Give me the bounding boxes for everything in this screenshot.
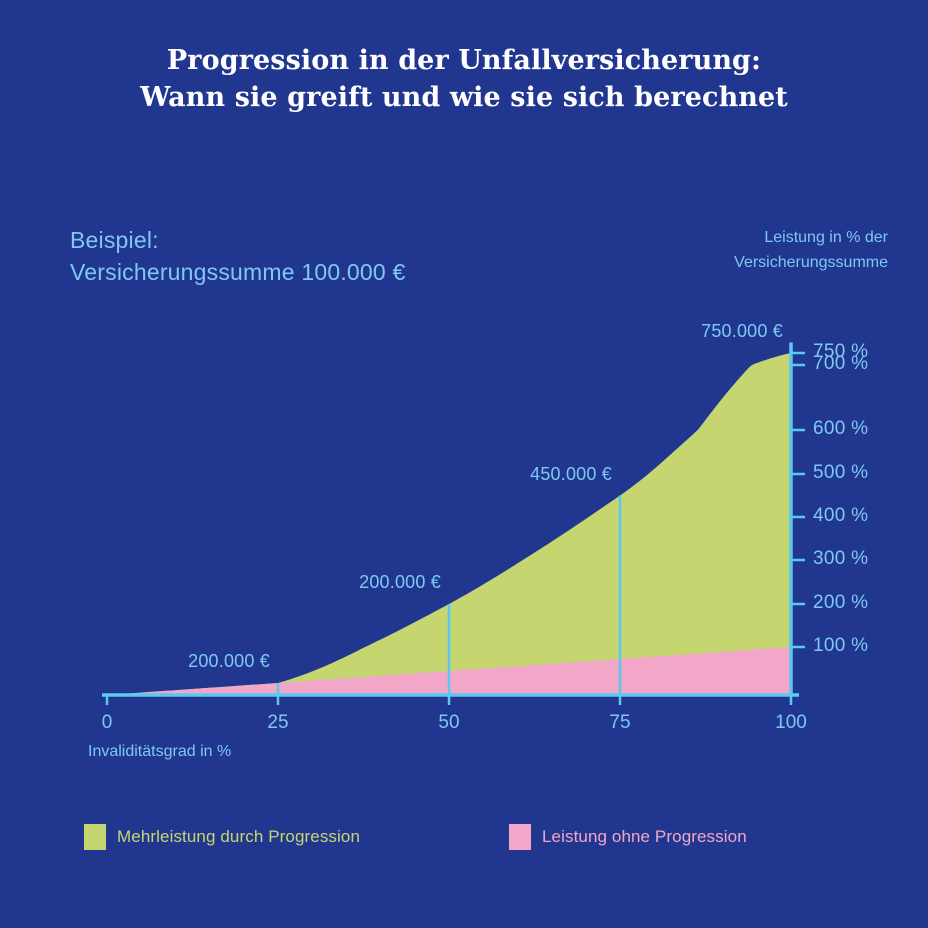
value-annotation-50: 200.000 € xyxy=(359,572,441,593)
y-tick-label-750: 750 % xyxy=(813,341,868,363)
y-tick-label-500: 500 % xyxy=(813,462,868,484)
legend-item-leistung-ohne: Leistung ohne Progression xyxy=(509,824,747,850)
value-annotation-75: 450.000 € xyxy=(530,464,612,485)
area-chart-svg xyxy=(0,0,928,928)
legend-label-leistung-ohne: Leistung ohne Progression xyxy=(542,827,747,847)
legend-swatch-pink xyxy=(509,824,531,850)
value-annotation-25: 200.000 € xyxy=(188,651,270,672)
legend-label-mehrleistung: Mehrleistung durch Progression xyxy=(117,827,360,847)
y-tick-label-100: 100 % xyxy=(813,635,868,657)
y-tick-label-200: 200 % xyxy=(813,592,868,614)
y-tick-label-600: 600 % xyxy=(813,418,868,440)
chart-area: 200.000 €200.000 €450.000 €750.000 € 100… xyxy=(0,0,928,928)
value-annotation-100: 750.000 € xyxy=(701,321,783,342)
y-tick-label-300: 300 % xyxy=(813,548,868,570)
legend-swatch-green xyxy=(84,824,106,850)
x-tick-label-50: 50 xyxy=(438,712,459,734)
y-tick-label-400: 400 % xyxy=(813,505,868,527)
chart-legend: Mehrleistung durch Progression Leistung … xyxy=(84,824,844,854)
legend-item-mehrleistung: Mehrleistung durch Progression xyxy=(84,824,360,850)
x-tick-label-75: 75 xyxy=(609,712,630,734)
x-tick-label-25: 25 xyxy=(267,712,288,734)
x-tick-label-100: 100 xyxy=(775,712,807,734)
x-axis-caption: Invaliditätsgrad in % xyxy=(88,743,231,761)
x-tick-label-0: 0 xyxy=(102,712,113,734)
